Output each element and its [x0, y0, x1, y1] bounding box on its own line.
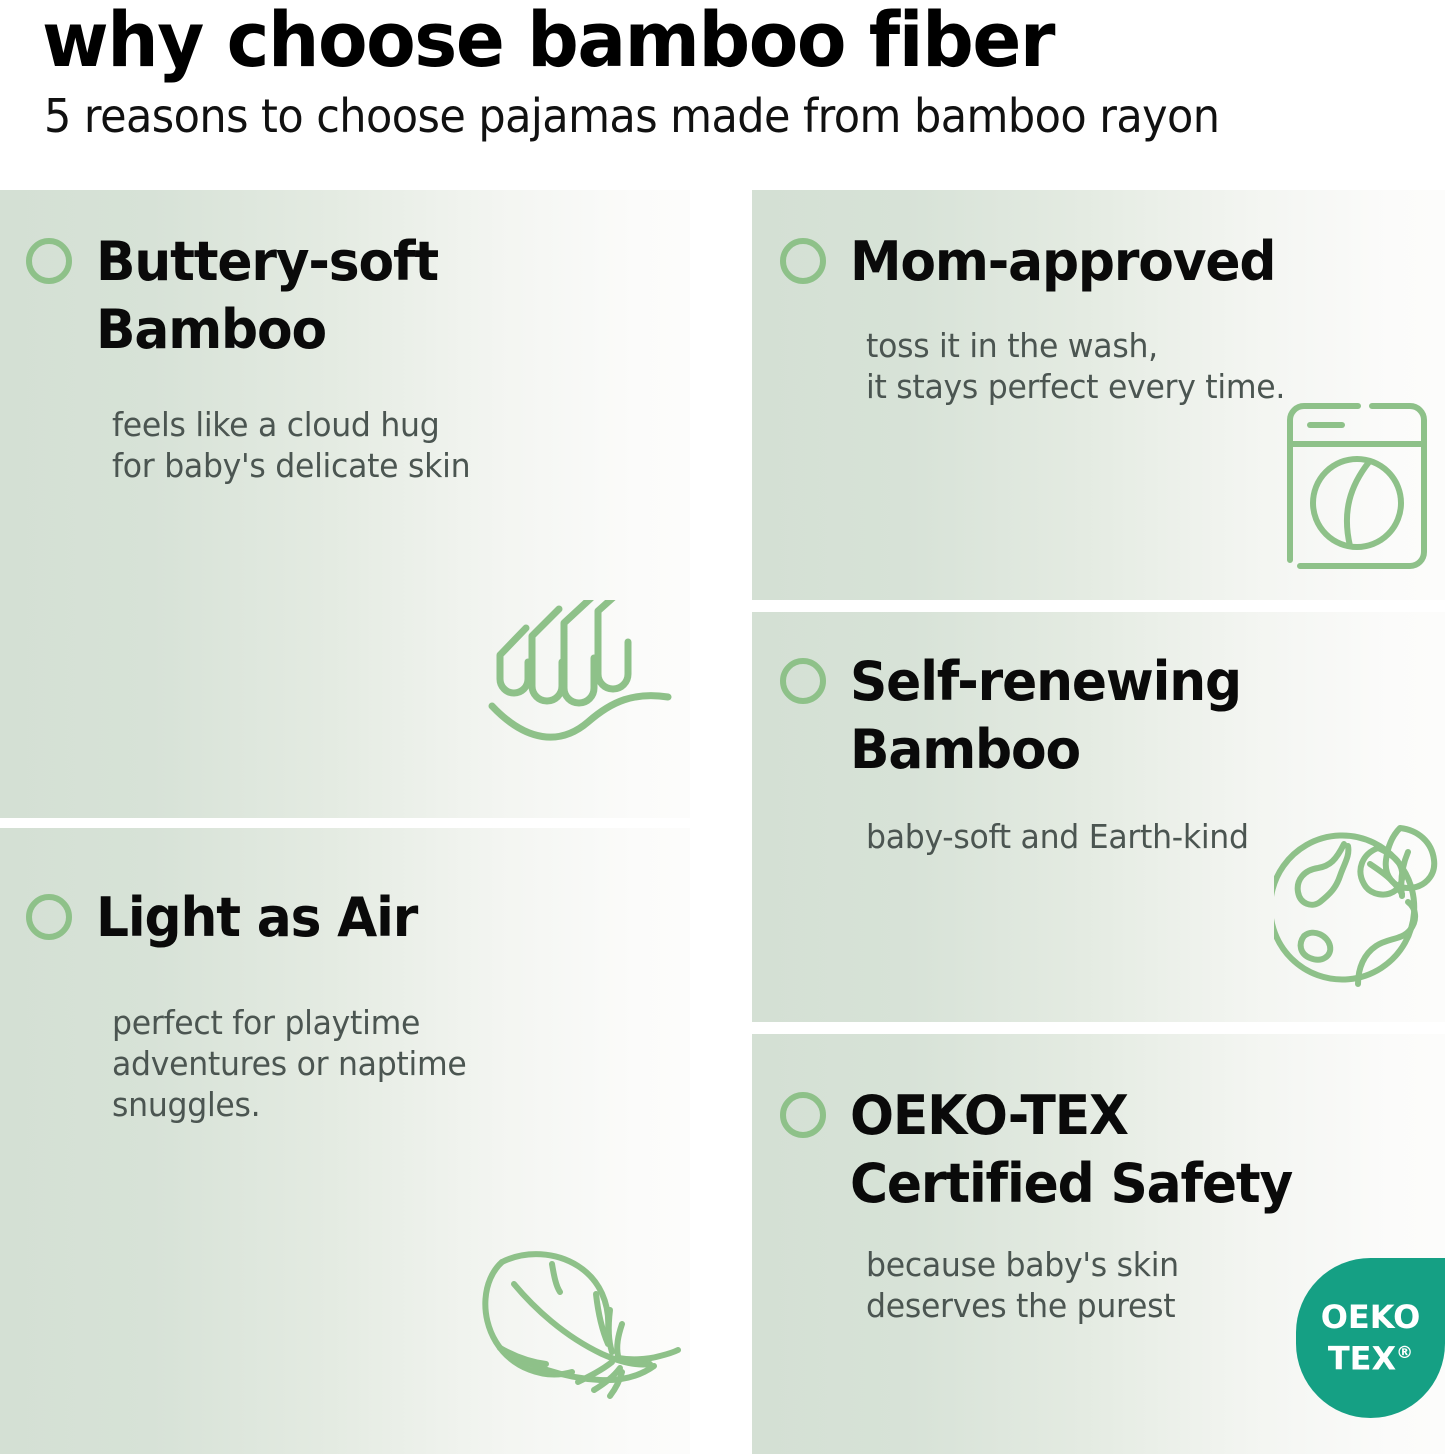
circle-bullet-icon: [780, 238, 826, 284]
page-title: why choose bamboo fiber: [42, 0, 1054, 84]
card-title: OEKO-TEX Certified Safety: [850, 1082, 1292, 1218]
card-body-text: baby-soft and Earth-kind: [866, 816, 1249, 857]
card-title: Buttery-soft Bamboo: [96, 228, 438, 364]
oeko-badge-line2: TEX®: [1328, 1335, 1413, 1377]
card-title: Mom-approved: [850, 228, 1275, 296]
card-body-text: because baby's skin deserves the purest: [866, 1244, 1179, 1326]
card-body-text: perfect for playtime adventures or napti…: [112, 1002, 466, 1125]
registered-trademark-icon: ®: [1396, 1343, 1413, 1363]
card-buttery-soft-bamboo: Buttery-soft Bamboo feels like a cloud h…: [0, 190, 690, 818]
hand-touch-icon: [482, 600, 690, 760]
circle-bullet-icon: [26, 238, 72, 284]
card-heading-row: OEKO-TEX Certified Safety: [780, 1082, 1311, 1218]
circle-bullet-icon: [780, 1092, 826, 1138]
card-light-as-air: Light as Air perfect for playtime advent…: [0, 828, 690, 1454]
infographic-page: why choose bamboo fiber 5 reasons to cho…: [0, 0, 1445, 1454]
card-heading-row: Buttery-soft Bamboo: [26, 228, 452, 364]
washing-machine-icon: [1280, 400, 1430, 575]
card-heading-row: Mom-approved: [780, 228, 1293, 296]
card-body-text: toss it in the wash, it stays perfect ev…: [866, 325, 1285, 407]
card-body-text: feels like a cloud hug for baby's delica…: [112, 404, 470, 486]
oeko-tex-badge: OEKO TEX®: [1296, 1258, 1445, 1418]
circle-bullet-icon: [780, 658, 826, 704]
card-heading-row: Self-renewing Bamboo: [780, 648, 1257, 784]
oeko-badge-line2-text: TEX: [1328, 1340, 1396, 1378]
card-mom-approved: Mom-approved toss it in the wash, it sta…: [752, 190, 1445, 600]
page-subtitle: 5 reasons to choose pajamas made from ba…: [44, 88, 1219, 144]
oeko-badge-line1: OEKO: [1321, 1299, 1421, 1335]
globe-leaf-icon: [1274, 818, 1445, 1000]
card-self-renewing-bamboo: Self-renewing Bamboo baby-soft and Earth…: [752, 612, 1445, 1022]
circle-bullet-icon: [26, 894, 72, 940]
card-heading-row: Light as Air: [26, 884, 431, 952]
card-title: Light as Air: [96, 884, 417, 952]
header: why choose bamboo fiber 5 reasons to cho…: [0, 0, 1445, 190]
card-title: Self-renewing Bamboo: [850, 648, 1241, 784]
feather-icon: [468, 1238, 686, 1428]
